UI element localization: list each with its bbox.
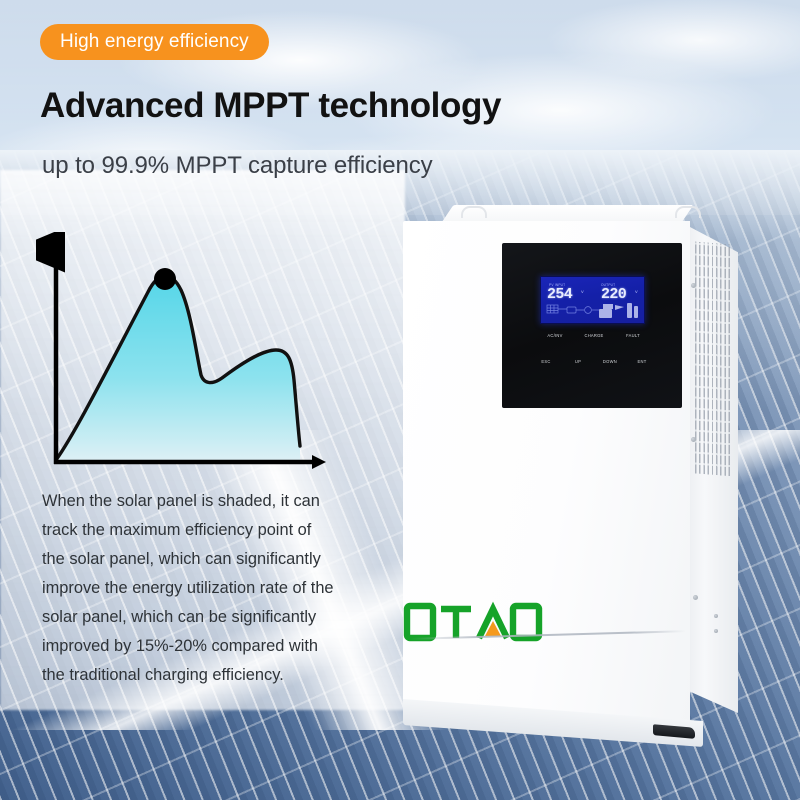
led-indicator-row: AC/INV CHARGE FAULT (536, 333, 652, 355)
button-label: UP (562, 359, 594, 364)
ventilation-slots (695, 242, 733, 477)
paragraph-line: When the solar panel is shaded, it can (42, 487, 372, 516)
ent-button[interactable]: ENT (626, 359, 658, 366)
inverter-front-face: PV INPUT 254 V OUTPUT 220 V (403, 221, 690, 721)
mounting-bracket-icon (675, 206, 701, 218)
screw-icon (691, 283, 696, 288)
paragraph-line: the solar panel, which can significantly (42, 545, 372, 574)
description-paragraph: When the solar panel is shaded, it can t… (42, 487, 372, 690)
mounting-bracket-icon (461, 206, 487, 218)
screw-icon (691, 437, 696, 442)
button-label: DOWN (594, 359, 626, 364)
led-label: AC/INV (536, 333, 574, 338)
paragraph-line: improved by 15%-20% compared with (42, 632, 372, 661)
status-badge: High energy efficiency (40, 24, 269, 60)
button-row: ESC UP DOWN ENT (530, 359, 660, 393)
lcd-schematic-icons (541, 299, 645, 323)
led-label: CHARGE (575, 333, 613, 338)
paragraph-line: track the maximum efficiency point of (42, 516, 372, 545)
control-panel: PV INPUT 254 V OUTPUT 220 V (502, 243, 682, 408)
down-button[interactable]: DOWN (594, 359, 626, 366)
lcd-right-unit: V (635, 289, 638, 294)
solar-inverter-product: PV INPUT 254 V OUTPUT 220 V (403, 205, 733, 750)
button-label: ENT (626, 359, 658, 364)
max-power-point-marker (154, 268, 176, 290)
paragraph-line: solar panel, which can be significantly (42, 603, 372, 632)
chart-svg (36, 232, 336, 484)
badge-label: High energy efficiency (60, 31, 249, 53)
chart-area-fill (56, 276, 300, 460)
page-subtitle: up to 99.9% MPPT capture efficiency (42, 152, 433, 180)
esc-button[interactable]: ESC (530, 359, 562, 366)
screw-icon (714, 629, 718, 633)
page-title: Advanced MPPT technology (40, 86, 501, 126)
led-fault: FAULT (614, 333, 652, 338)
button-label: ESC (530, 359, 562, 364)
paragraph-line: the traditional charging efficiency. (42, 661, 372, 690)
lcd-display: PV INPUT 254 V OUTPUT 220 V (540, 276, 645, 324)
mppt-power-curve-chart (36, 232, 336, 484)
led-charge: CHARGE (575, 333, 613, 338)
led-acinv: AC/INV (536, 333, 574, 338)
lcd-left-unit: V (581, 289, 584, 294)
screw-icon (714, 614, 718, 618)
screw-icon (693, 595, 698, 600)
paragraph-line: improve the energy utilization rate of t… (42, 574, 372, 603)
up-button[interactable]: UP (562, 359, 594, 366)
led-label: FAULT (614, 333, 652, 338)
